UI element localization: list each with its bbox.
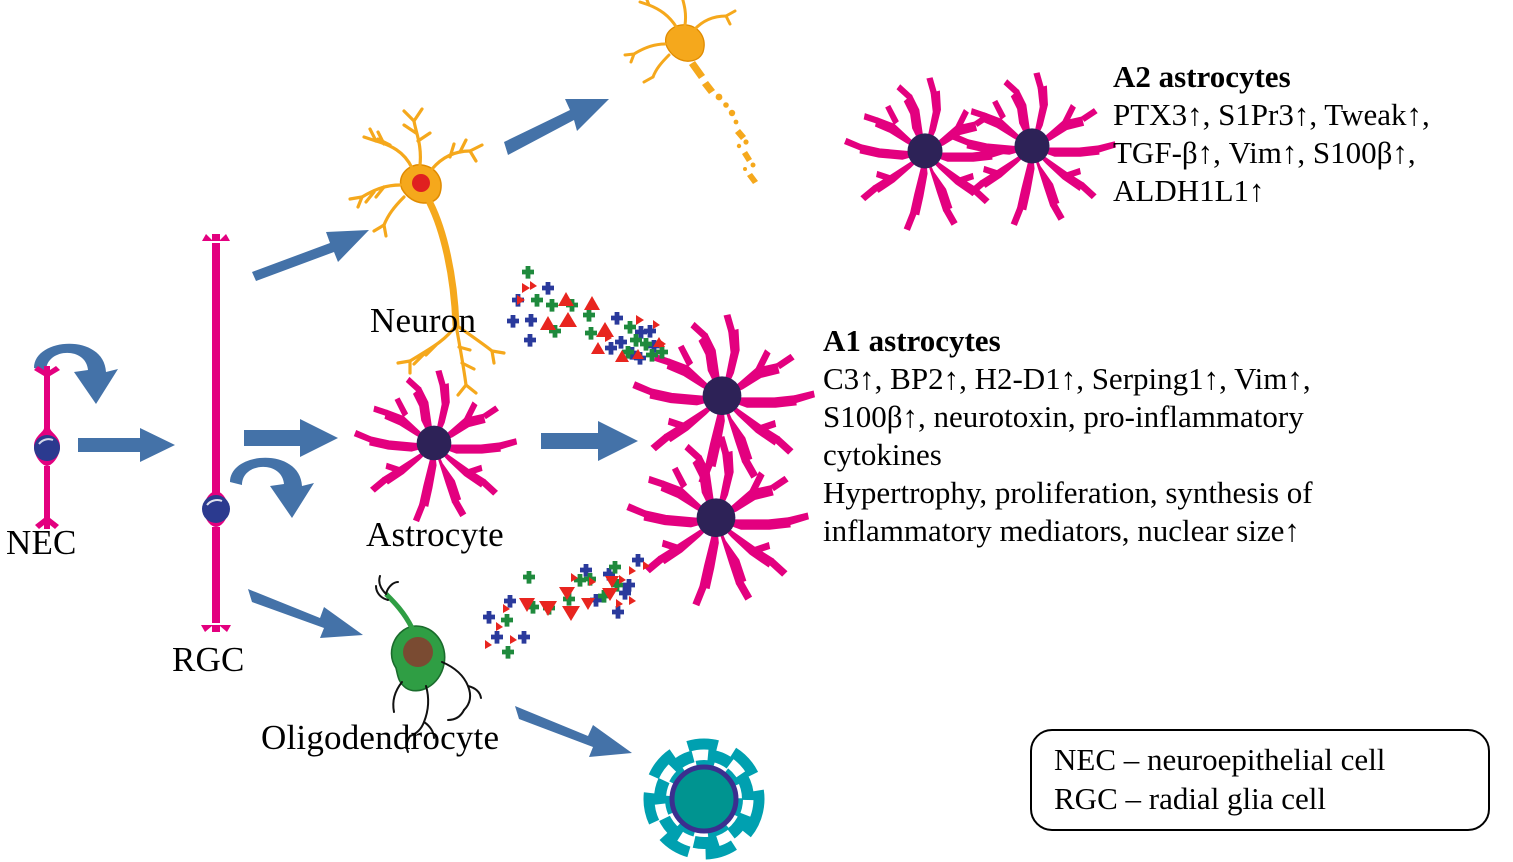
legend-line-rgc: RGC – radial glia cell — [1054, 779, 1488, 818]
rgc-self-renewal-arrow — [230, 458, 314, 518]
a2-line-1: PTX3↑, S1Pr3↑, Tweak↑, — [1113, 96, 1430, 134]
oligodendrocyte-to-myelin-arrow — [515, 706, 632, 757]
degenerating-neuron — [625, 0, 758, 184]
a2-astrocyte-left — [845, 78, 1009, 230]
label-oligodendrocyte: Oligodendrocyte — [261, 718, 499, 758]
rgc-to-astrocyte-arrow — [244, 419, 338, 457]
neuroepithelial-cell — [34, 366, 60, 529]
legend-line-nec: NEC – neuroepithelial cell — [1054, 740, 1488, 779]
diagram-canvas: NEC RGC Neuron Astrocyte Oligodendrocyte… — [0, 0, 1513, 862]
a2-astrocytes-text-block: A2 astrocytes PTX3↑, S1Pr3↑, Tweak↑, TGF… — [1113, 58, 1430, 210]
a1-title: A1 astrocytes — [823, 322, 1313, 360]
a2-title: A2 astrocytes — [1113, 58, 1430, 96]
cytokine-particle-stream-upper — [507, 266, 668, 365]
a1-astrocyte-pair — [627, 315, 814, 606]
a2-astrocyte-pair — [845, 73, 1116, 230]
a2-astrocyte-right — [952, 73, 1116, 225]
a1-line-3: cytokines — [823, 436, 1313, 474]
astrocyte — [354, 371, 516, 522]
neuron-to-degenerating-neuron-arrow — [504, 99, 609, 155]
nec-to-rgc-arrow — [78, 428, 175, 462]
label-astrocyte: Astrocyte — [366, 515, 504, 555]
neuron — [350, 109, 504, 395]
astrocyte-to-a1-arrow — [541, 421, 638, 461]
label-nec: NEC — [6, 523, 77, 563]
a2-line-2: TGF-β↑, Vim↑, S100β↑, — [1113, 134, 1430, 172]
a1-line-1: C3↑, BP2↑, H2-D1↑, Serping1↑, Vim↑, — [823, 360, 1313, 398]
a1-astrocyte-bottom — [627, 437, 808, 606]
label-rgc: RGC — [172, 640, 245, 680]
a1-line-2: S100β↑, neurotoxin, pro-inflammatory — [823, 398, 1313, 436]
cytokine-particle-stream-lower — [483, 554, 650, 659]
rgc-to-neuron-arrow — [252, 230, 369, 281]
a1-line-5: inflammatory mediators, nuclear size↑ — [823, 512, 1313, 550]
abbreviation-legend-box: NEC – neuroepithelial cell RGC – radial … — [1030, 729, 1490, 831]
a2-line-3: ALDH1L1↑ — [1113, 172, 1430, 210]
label-neuron: Neuron — [370, 301, 476, 341]
myelinated-axon-cross-section — [642, 737, 766, 861]
a1-astrocytes-text-block: A1 astrocytes C3↑, BP2↑, H2-D1↑, Serping… — [823, 322, 1313, 550]
a1-line-4: Hypertrophy, proliferation, synthesis of — [823, 474, 1313, 512]
arrow-group — [34, 99, 638, 757]
rgc-to-oligodendrocyte-arrow — [248, 589, 363, 638]
radial-glia-cell — [201, 234, 231, 632]
